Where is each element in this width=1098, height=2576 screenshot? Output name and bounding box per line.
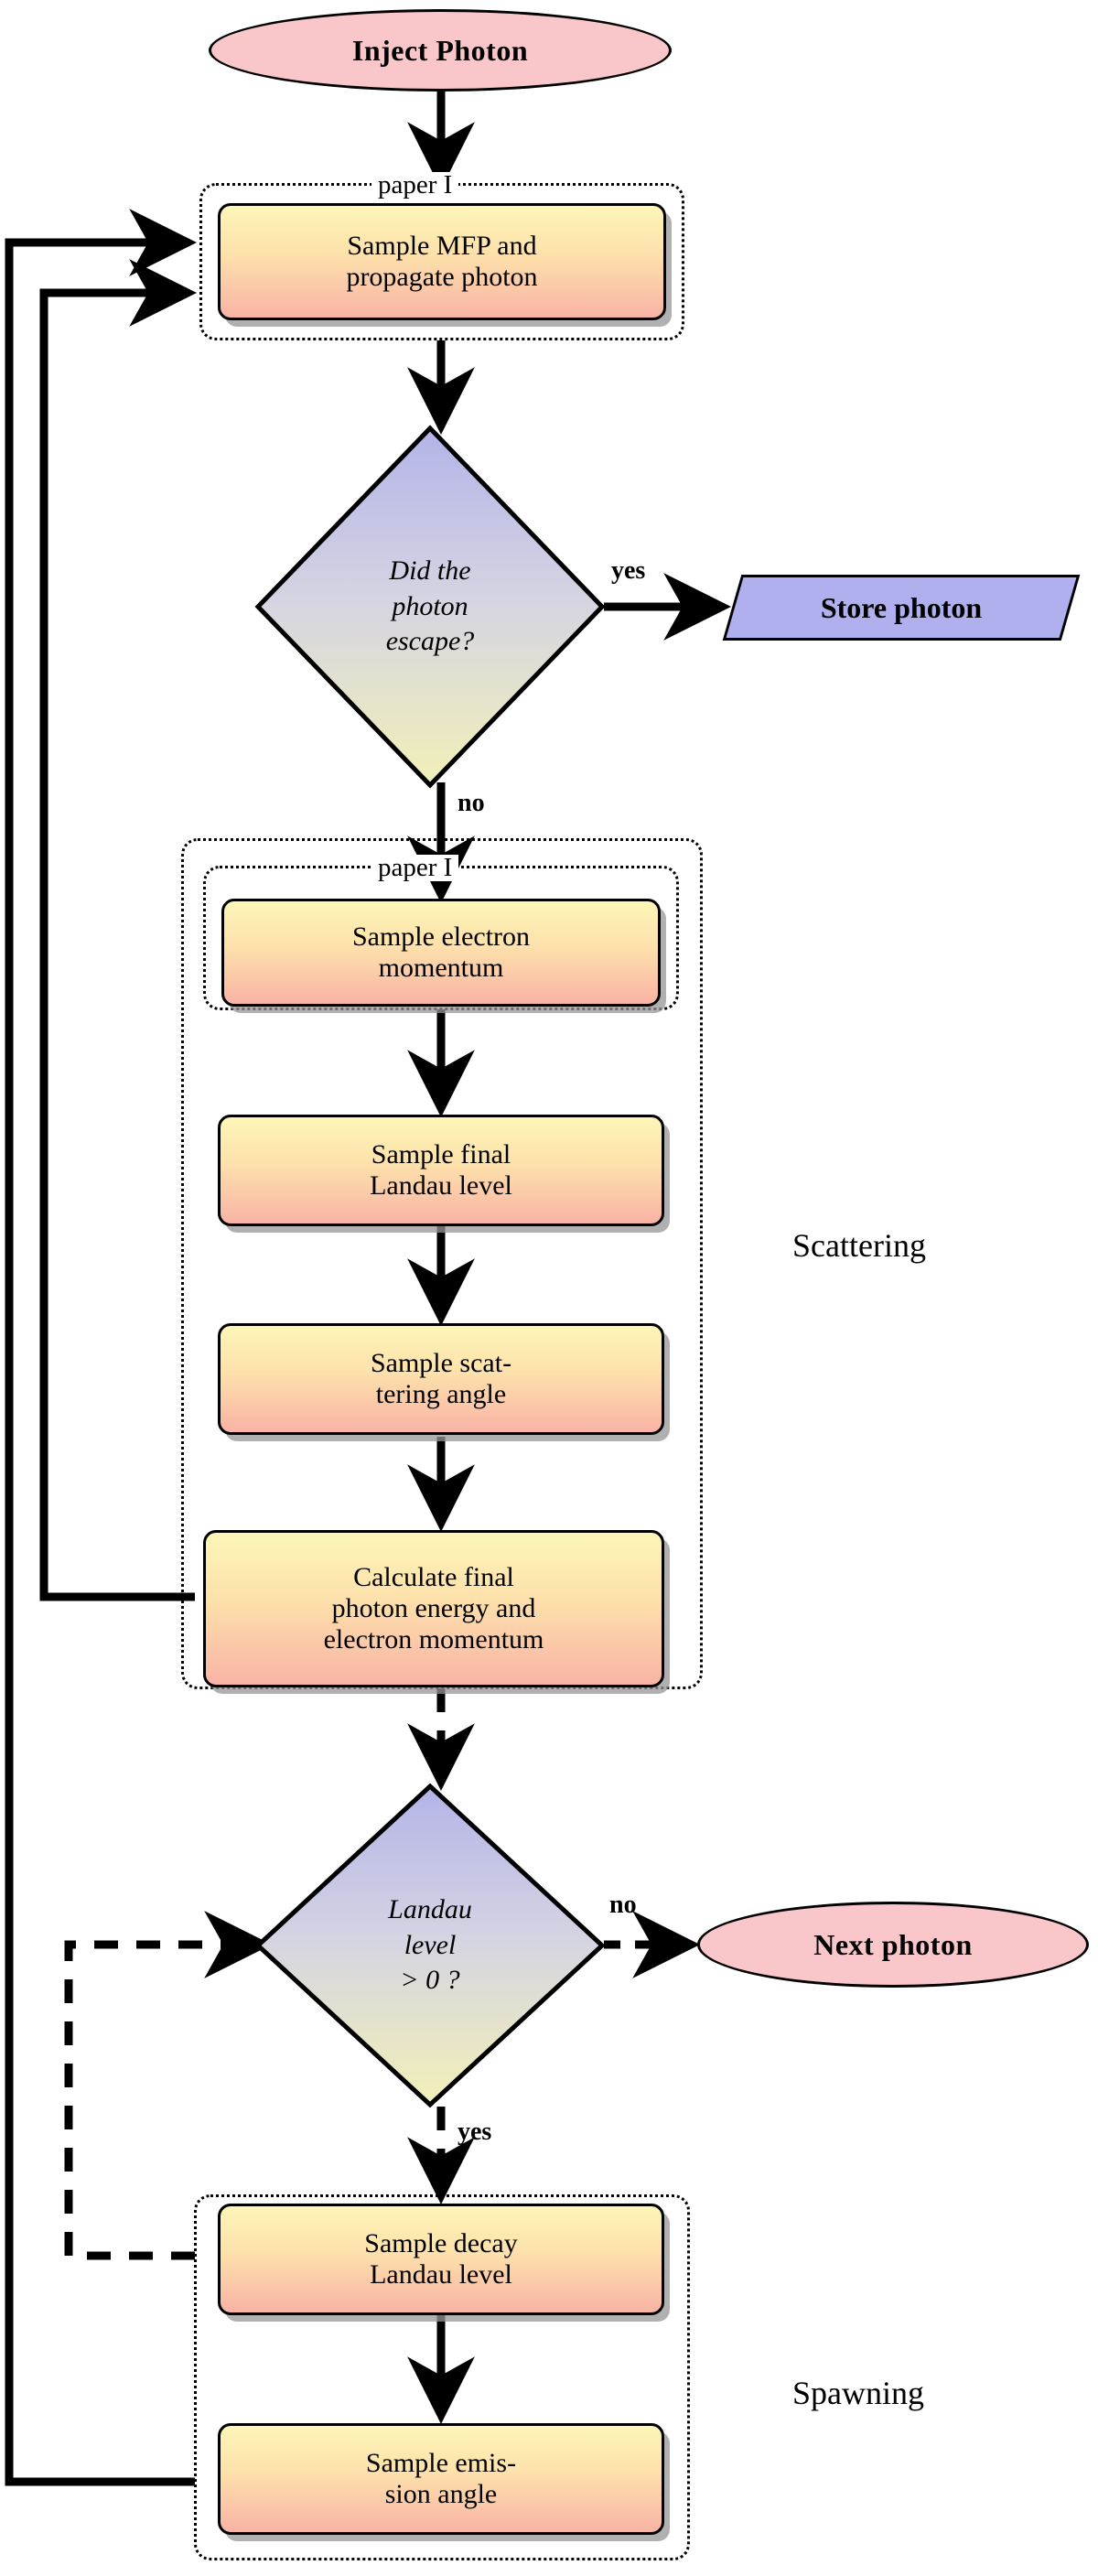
node-scattering-angle-line1: Sample scat- [371, 1348, 511, 1379]
edge-label-escape-no: no [457, 789, 485, 818]
node-sample-mfp-line1: Sample MFP and [347, 231, 536, 262]
node-next-photon-label: Next photon [813, 1928, 973, 1962]
node-calculate-final-line1: Calculate final [353, 1562, 514, 1593]
edge-label-landau-no: no [609, 1891, 637, 1920]
node-emission-angle-line2: sion angle [385, 2479, 497, 2510]
node-next-photon[interactable]: Next photon [697, 1902, 1089, 1988]
node-sample-electron-momentum[interactable]: Sample electron momentum [221, 899, 661, 1007]
node-sample-mfp-line2: propagate photon [346, 262, 537, 293]
edge-label-escape-yes: yes [611, 556, 645, 586]
node-final-landau-line2: Landau level [370, 1170, 512, 1202]
did-escape-diamond-shape [258, 428, 602, 785]
node-sample-emission-angle[interactable]: Sample emis- sion angle [218, 2423, 664, 2535]
node-did-escape[interactable]: Did the photon escape? [256, 426, 604, 787]
node-calculate-final[interactable]: Calculate final photon energy and electr… [203, 1530, 664, 1687]
group-paper-i-top-label: paper I [371, 172, 458, 199]
node-sample-decay-landau[interactable]: Sample decay Landau level [218, 2204, 664, 2315]
node-scattering-angle-line2: tering angle [376, 1379, 506, 1410]
node-layer: paper I paper I Scattering Spawning Inje… [0, 0, 1098, 2576]
node-final-landau-line1: Sample final [371, 1139, 511, 1170]
caption-spawning: Spawning [792, 2374, 924, 2412]
caption-scattering: Scattering [792, 1226, 926, 1265]
node-emission-angle-line1: Sample emis- [366, 2448, 516, 2479]
landau-gt-zero-diamond-shape [258, 1786, 602, 2105]
node-landau-gt-zero[interactable]: Landau level > 0 ? [256, 1784, 604, 2107]
node-sample-final-landau[interactable]: Sample final Landau level [218, 1115, 664, 1226]
group-paper-i-inner-label: paper I [371, 855, 458, 881]
node-store-photon[interactable]: Store photon [723, 575, 1081, 641]
node-decay-landau-line2: Landau level [370, 2259, 512, 2290]
node-inject-photon-label: Inject Photon [352, 34, 528, 68]
node-sample-mfp[interactable]: Sample MFP and propagate photon [218, 203, 666, 320]
node-electron-momentum-line1: Sample electron [352, 922, 530, 953]
node-store-photon-label: Store photon [821, 591, 982, 625]
node-sample-scattering-angle[interactable]: Sample scat- tering angle [218, 1323, 664, 1435]
node-decay-landau-line1: Sample decay [364, 2228, 517, 2259]
node-calculate-final-line3: electron momentum [324, 1624, 544, 1655]
flowchart-canvas: paper I paper I Scattering Spawning Inje… [0, 0, 1098, 2576]
node-calculate-final-line2: photon energy and [332, 1593, 536, 1624]
node-electron-momentum-line2: momentum [379, 953, 504, 984]
edge-label-landau-yes: yes [457, 2118, 491, 2147]
node-inject-photon[interactable]: Inject Photon [209, 9, 672, 92]
